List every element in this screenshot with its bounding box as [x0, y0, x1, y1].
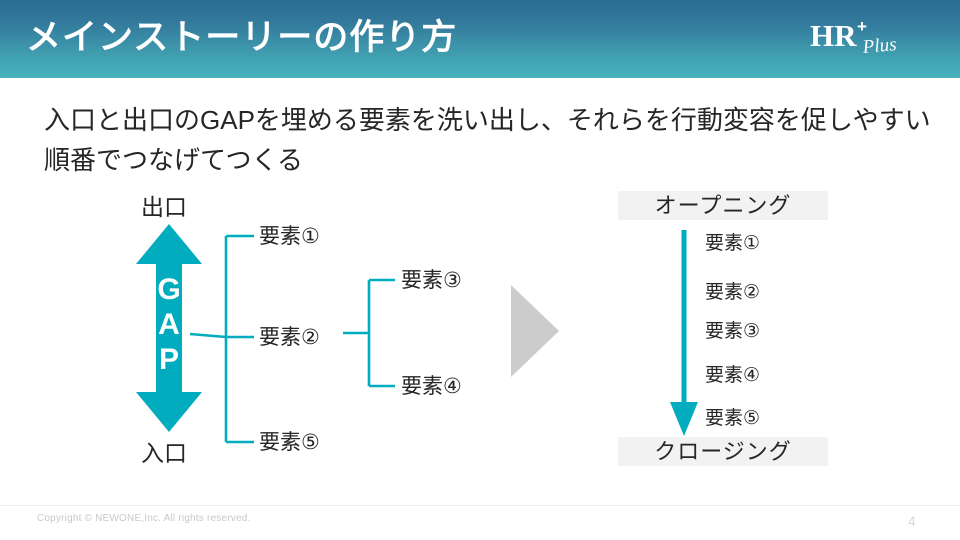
- bracket-sub-group: [343, 270, 409, 396]
- subheading-text: 入口と出口のGAPを埋める要素を洗い出し、それらを行動変容を促しやすい順番でつな…: [44, 100, 934, 180]
- page-title: メインストーリーの作り方: [26, 14, 457, 62]
- logo-text-plus: Plus: [862, 35, 897, 57]
- element-label-3: 要素③: [401, 268, 462, 293]
- element-label-2: 要素②: [259, 325, 320, 350]
- copyright-text: Copyright © NEWONE,Inc. All rights reser…: [37, 513, 250, 524]
- element-label-1: 要素①: [259, 224, 320, 249]
- exit-label: 出口: [141, 194, 187, 220]
- triangle-right-icon: [511, 285, 559, 377]
- footer-divider: [0, 505, 960, 506]
- bracket-left-group: [190, 224, 270, 454]
- closing-band: クロージング: [618, 437, 828, 466]
- entrance-label: 入口: [141, 440, 187, 466]
- logo-plus-icon: +: [857, 18, 867, 35]
- down-arrow-icon: [668, 230, 700, 438]
- element-label-5: 要素⑤: [259, 430, 320, 455]
- logo-text-hr: HR: [810, 20, 857, 51]
- sequence-item-3: 要素③: [705, 320, 760, 343]
- sequence-item-5: 要素⑤: [705, 407, 760, 430]
- sequence-item-1: 要素①: [705, 232, 760, 255]
- opening-band: オープニング: [618, 191, 828, 220]
- slide-canvas: メインストーリーの作り方 HR + Plus 入口と出口のGAPを埋める要素を洗…: [0, 0, 960, 540]
- element-label-4: 要素④: [401, 374, 462, 399]
- hr-plus-logo: HR + Plus: [810, 18, 920, 66]
- page-number: 4: [908, 513, 916, 529]
- slide-header-bar: メインストーリーの作り方 HR + Plus: [0, 0, 960, 78]
- sequence-item-2: 要素②: [705, 281, 760, 304]
- sequence-item-4: 要素④: [705, 364, 760, 387]
